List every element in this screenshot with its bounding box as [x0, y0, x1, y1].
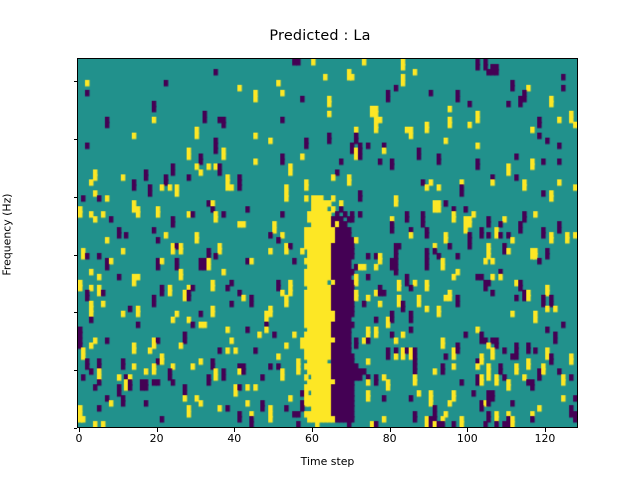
y-tick-mark: [74, 255, 78, 256]
y-tick-mark: [74, 197, 78, 198]
x-tick-mark: [390, 428, 391, 432]
x-tick-label: 80: [360, 432, 420, 445]
x-tick-mark: [234, 428, 235, 432]
x-tick-mark: [467, 428, 468, 432]
x-tick-mark: [312, 428, 313, 432]
x-tick-label: 40: [204, 432, 264, 445]
y-tick-mark: [74, 81, 78, 82]
x-tick-mark: [79, 428, 80, 432]
y-tick-mark: [74, 139, 78, 140]
heatmap-image: [78, 59, 577, 427]
y-tick-mark: [74, 312, 78, 313]
x-tick-mark: [157, 428, 158, 432]
x-tick-label: 100: [437, 432, 497, 445]
heatmap-axes: [77, 58, 578, 428]
x-tick-mark: [545, 428, 546, 432]
x-tick-label: 20: [127, 432, 187, 445]
y-axis-ticks: 020000400006000080000100000120000: [0, 0, 77, 480]
x-tick-label: 120: [515, 432, 575, 445]
y-tick-mark: [74, 428, 78, 429]
x-tick-label: 60: [282, 432, 342, 445]
x-axis-label: Time step: [77, 455, 578, 468]
matplotlib-figure: Predicted : La Frequency (Hz) Time step …: [0, 0, 640, 480]
y-tick-mark: [74, 370, 78, 371]
x-tick-label: 0: [49, 432, 109, 445]
page-title: Predicted : La: [0, 28, 640, 44]
